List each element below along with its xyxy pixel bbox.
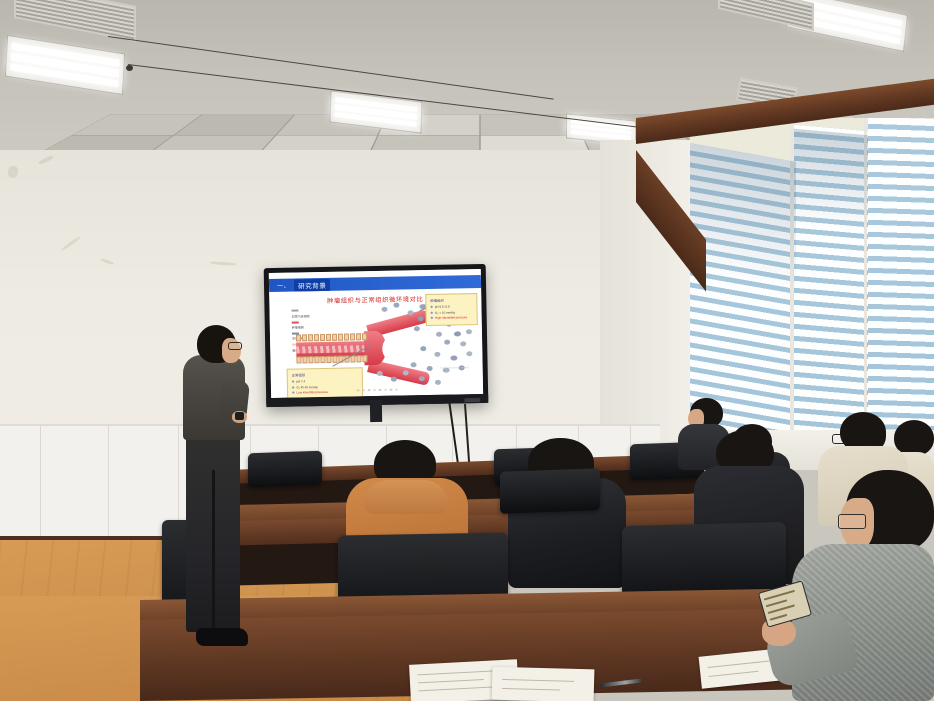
callout-tumor-tissue: 肿瘤组织 pH 6.5–6.9 O₂ < 10 mmHg High inters… xyxy=(425,293,478,326)
slide-header-number: 一、 xyxy=(277,281,290,290)
tumor-cell-cluster xyxy=(269,269,481,273)
ceiling-wire-clip-left xyxy=(126,65,133,71)
presenter-eyeglasses xyxy=(228,342,242,350)
presenter-clicker[interactable] xyxy=(235,412,244,420)
slide-diagram: Tumor microenvironment xyxy=(269,269,481,273)
presenter-leg-seam xyxy=(212,470,215,630)
legend-item-1: 肿瘤细胞 xyxy=(292,320,310,332)
slide-navigation-dots[interactable] xyxy=(357,388,398,391)
slide-header-bar: 一、 研究背景 xyxy=(269,275,481,292)
slide-watermark: Tumor microenvironment xyxy=(440,366,469,371)
window-wall xyxy=(690,118,934,470)
chair-row3-1[interactable] xyxy=(248,451,322,488)
tv-screen[interactable]: 一、 研究背景 肿瘤组织与正常组织微环境对比 血管内皮细胞 肿瘤细胞 免疫细胞 … xyxy=(269,269,483,398)
tv-brand-logo xyxy=(464,398,480,402)
callout-normal-tissue: 正常组织 pH 7.4 O₂ 约 40 mmHg Low interstitia… xyxy=(287,367,364,398)
slide-header-title: 研究背景 xyxy=(294,278,331,291)
ceiling-vent-top-left xyxy=(14,0,136,42)
wall-mounted-tv[interactable]: 一、 研究背景 肿瘤组织与正常组织微环境对比 血管内皮细胞 肿瘤细胞 免疫细胞 … xyxy=(264,264,489,407)
ceiling-light-left xyxy=(5,35,125,95)
presenter-shoes xyxy=(196,628,248,646)
legend-item-0: 血管内皮细胞 xyxy=(291,308,309,320)
eyeglasses xyxy=(838,514,866,529)
tv-wall-mount xyxy=(370,400,382,422)
ceiling-vent-top-right xyxy=(718,0,814,31)
vessel-notch xyxy=(382,334,411,363)
meeting-room-photo: 一、 研究背景 肿瘤组织与正常组织微环境对比 血管内皮细胞 肿瘤细胞 免疫细胞 … xyxy=(0,0,934,701)
orange-jacket-hood xyxy=(364,480,448,514)
presentation-slide: 一、 研究背景 肿瘤组织与正常组织微环境对比 血管内皮细胞 肿瘤细胞 免疫细胞 … xyxy=(269,269,483,398)
endothelial-row-top xyxy=(296,333,367,341)
paper-sheet-2[interactable] xyxy=(492,667,595,701)
endothelial-row-bottom xyxy=(296,355,367,363)
chair-row2-3[interactable] xyxy=(500,468,600,513)
